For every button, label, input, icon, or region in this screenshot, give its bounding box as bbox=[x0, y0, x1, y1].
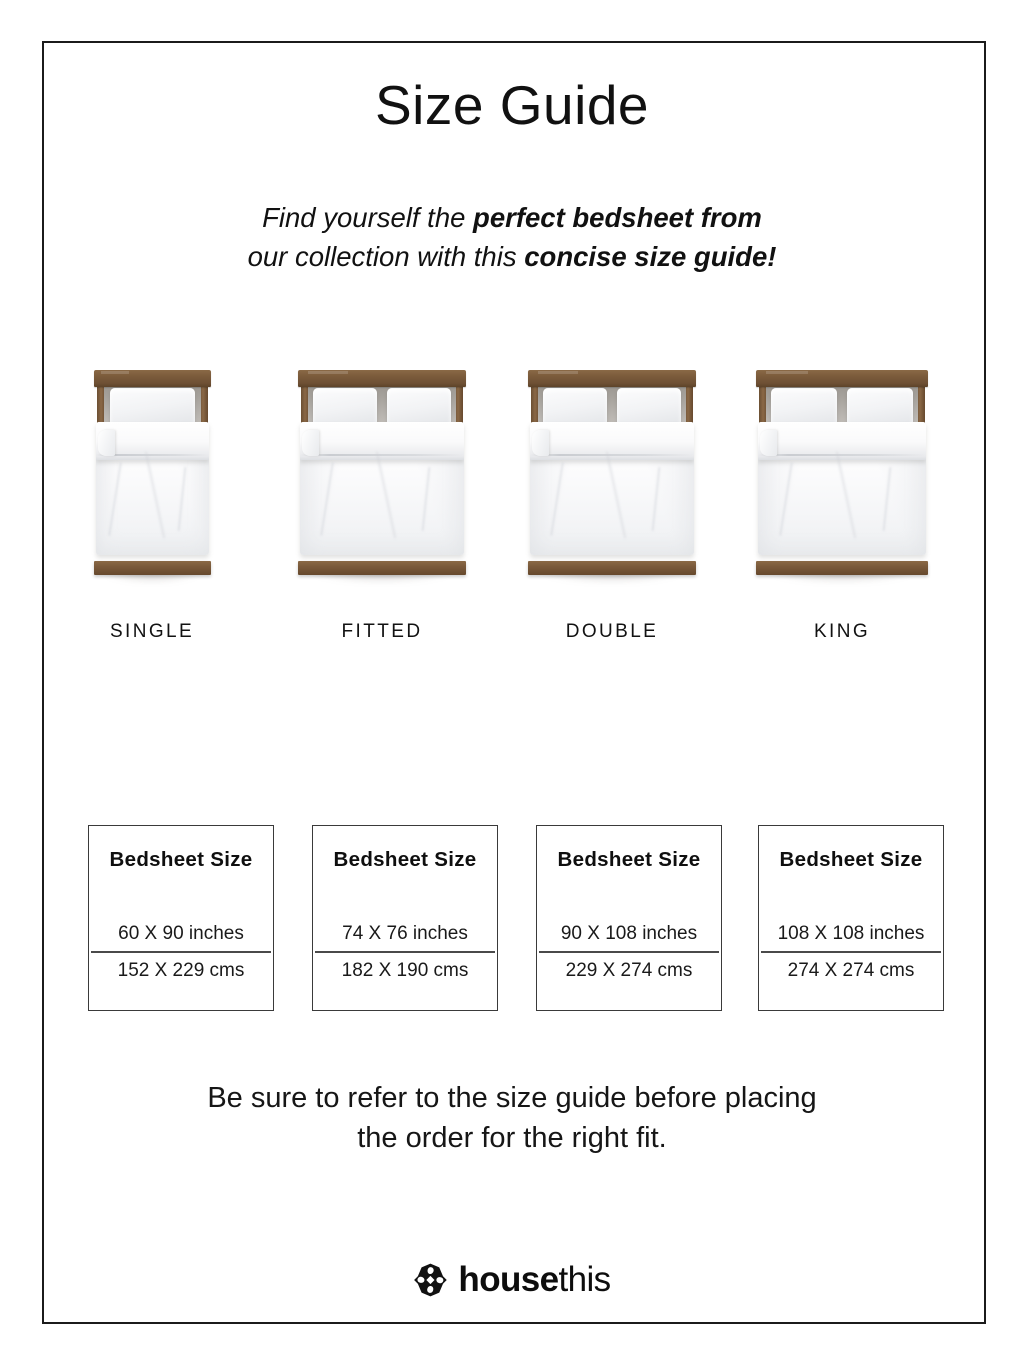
footboard-rail bbox=[298, 561, 466, 575]
size-box-fitted: Bedsheet Size 74 X 76 inches 182 X 190 c… bbox=[312, 825, 498, 1011]
footboard-rail bbox=[756, 561, 928, 575]
duvet bbox=[530, 422, 694, 555]
duvet-crease bbox=[836, 452, 856, 538]
duvet-crease bbox=[178, 467, 187, 531]
footer-note: Be sure to refer to the size guide befor… bbox=[117, 1078, 907, 1158]
bed-column-king: KING bbox=[732, 370, 952, 643]
duvet-crease bbox=[376, 452, 396, 538]
size-cms: 274 X 274 cms bbox=[759, 953, 943, 985]
duvet-crease bbox=[108, 462, 122, 536]
bed-column-fitted: FITTED bbox=[272, 370, 492, 643]
size-inches: 74 X 76 inches bbox=[313, 919, 497, 951]
footer-note-line2: the order for the right fit. bbox=[357, 1122, 666, 1154]
headboard-rail bbox=[528, 370, 696, 387]
subtitle-line2-bold: concise size guide! bbox=[524, 241, 776, 272]
size-box-values: 108 X 108 inches 274 X 274 cms bbox=[759, 919, 943, 985]
size-inches: 90 X 108 inches bbox=[537, 919, 721, 951]
pinwheel-flower-logo-icon bbox=[413, 1263, 447, 1297]
size-box-double: Bedsheet Size 90 X 108 inches 229 X 274 … bbox=[536, 825, 722, 1011]
size-box-king: Bedsheet Size 108 X 108 inches 274 X 274… bbox=[758, 825, 944, 1011]
bed-label-double: DOUBLE bbox=[566, 621, 659, 643]
size-guide-page: Size Guide Find yourself the perfect bed… bbox=[0, 0, 1024, 1365]
subtitle-line1-plain: Find yourself the bbox=[262, 202, 473, 233]
size-inches: 108 X 108 inches bbox=[759, 919, 943, 951]
duvet bbox=[300, 422, 464, 555]
brand-name-light: this bbox=[559, 1260, 611, 1299]
size-box-values: 60 X 90 inches 152 X 229 cms bbox=[89, 919, 273, 985]
subtitle-line2-plain: our collection with this bbox=[248, 241, 525, 272]
bed-illustration-fitted bbox=[298, 370, 466, 575]
bed-label-single: SINGLE bbox=[110, 621, 194, 643]
size-box-values: 74 X 76 inches 182 X 190 cms bbox=[313, 919, 497, 985]
bed-illustration-double bbox=[528, 370, 696, 575]
duvet-crease bbox=[421, 467, 430, 531]
size-cms: 182 X 190 cms bbox=[313, 953, 497, 985]
duvet-crease bbox=[145, 452, 165, 538]
bed-illustration-king bbox=[756, 370, 928, 575]
page-title: Size Guide bbox=[0, 78, 1024, 133]
size-box-values: 90 X 108 inches 229 X 274 cms bbox=[537, 919, 721, 985]
duvet-crease bbox=[882, 467, 891, 531]
size-cms: 152 X 229 cms bbox=[89, 953, 273, 985]
headboard-rail bbox=[298, 370, 466, 387]
headboard-rail bbox=[756, 370, 928, 387]
subtitle-line1-bold: perfect bedsheet from bbox=[473, 202, 762, 233]
bed-label-fitted: FITTED bbox=[342, 621, 423, 643]
size-inches: 60 X 90 inches bbox=[89, 919, 273, 951]
size-box-title: Bedsheet Size bbox=[334, 848, 477, 872]
size-box-title: Bedsheet Size bbox=[558, 848, 701, 872]
duvet-fold bbox=[530, 422, 694, 460]
bed-illustration-single bbox=[94, 370, 211, 575]
duvet-crease bbox=[651, 467, 660, 531]
duvet-crease bbox=[779, 462, 793, 536]
brand-logo: housethis bbox=[413, 1262, 610, 1297]
brand-name-bold: house bbox=[458, 1260, 558, 1299]
bed-label-king: KING bbox=[814, 621, 870, 643]
duvet bbox=[758, 422, 926, 555]
footer-note-line1: Be sure to refer to the size guide befor… bbox=[207, 1082, 816, 1114]
size-box-title: Bedsheet Size bbox=[110, 848, 253, 872]
bed-column-double: DOUBLE bbox=[502, 370, 722, 643]
duvet-crease bbox=[320, 462, 334, 536]
size-boxes-row: Bedsheet Size 60 X 90 inches 152 X 229 c… bbox=[42, 825, 986, 1015]
size-box-title: Bedsheet Size bbox=[780, 848, 923, 872]
duvet-fold bbox=[300, 422, 464, 460]
duvet-crease bbox=[606, 452, 626, 538]
bed-illustrations-row: SINGLE FITTED bbox=[42, 370, 986, 670]
duvet bbox=[96, 422, 209, 555]
page-subtitle: Find yourself the perfect bedsheet from … bbox=[162, 198, 862, 276]
headboard-rail bbox=[94, 370, 211, 387]
bed-column-single: SINGLE bbox=[52, 370, 252, 643]
footboard-rail bbox=[528, 561, 696, 575]
duvet-fold bbox=[758, 422, 926, 460]
duvet-fold bbox=[96, 422, 209, 460]
size-box-single: Bedsheet Size 60 X 90 inches 152 X 229 c… bbox=[88, 825, 274, 1011]
brand-logo-text: housethis bbox=[458, 1262, 610, 1297]
size-cms: 229 X 274 cms bbox=[537, 953, 721, 985]
footboard-rail bbox=[94, 561, 211, 575]
duvet-crease bbox=[550, 462, 564, 536]
